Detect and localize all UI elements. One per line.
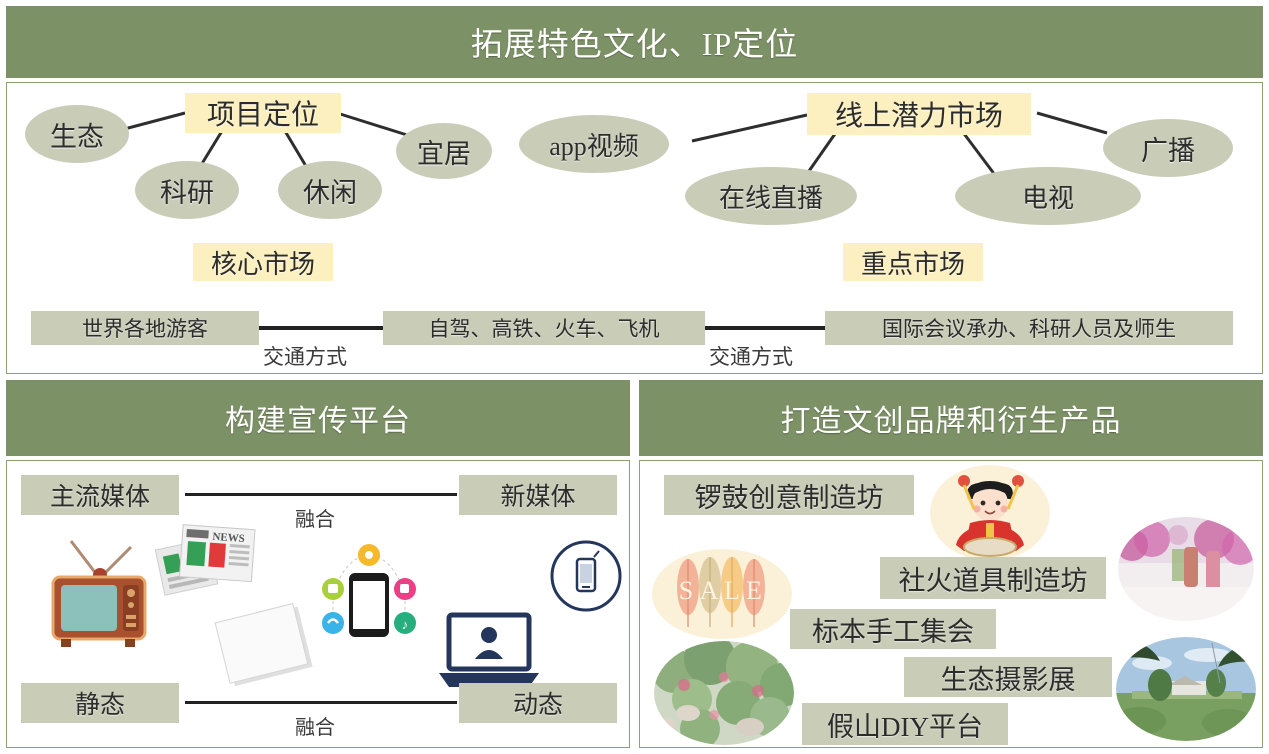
node-label: 休闲 <box>303 171 357 210</box>
label-gong-drum-workshop[interactable]: 锣鼓创意制造坊 <box>664 475 914 515</box>
bottom-left-body: 主流媒体 融合 新媒体 <box>6 460 630 748</box>
node-xiuxian[interactable]: 休闲 <box>278 161 382 219</box>
key-market-label: 重点市场 <box>861 244 965 281</box>
label-dynamic[interactable]: 动态 <box>459 683 617 723</box>
leaves-sale-illustration: S A L E <box>652 543 792 645</box>
bottom-left-title: 构建宣传平台 <box>6 380 630 456</box>
node-label: 在线直播 <box>719 178 823 215</box>
chain-label: 世界各地游客 <box>82 313 208 343</box>
drummer-child-illustration <box>930 465 1050 561</box>
tablet-apps-icon: ♪ <box>315 539 423 649</box>
node-keyan[interactable]: 科研 <box>135 161 239 219</box>
label-shehuo-props-workshop[interactable]: 社火道具制造坊 <box>880 557 1106 599</box>
label-key-market[interactable]: 重点市场 <box>843 243 983 281</box>
bottom-right-title: 打造文创品牌和衍生产品 <box>639 380 1263 456</box>
svg-text:♪: ♪ <box>402 617 409 632</box>
top-section: 拓展特色文化、IP定位 生态 项目定位 科研 休闲 <box>6 6 1263 374</box>
svg-text:NEWS: NEWS <box>212 531 245 545</box>
center-online-market[interactable]: 线上潜力市场 <box>807 93 1031 135</box>
laptop-user-icon <box>435 611 543 693</box>
node-app-video[interactable]: app视频 <box>519 115 669 173</box>
svg-text:L: L <box>724 576 740 605</box>
newspaper-icon: NEWS <box>155 521 265 603</box>
chain-item-0[interactable]: 世界各地游客 <box>31 311 259 345</box>
chain-item-1[interactable]: 自驾、高铁、火车、飞机 <box>383 311 705 345</box>
svg-text:E: E <box>746 576 762 605</box>
chain-label: 自驾、高铁、火车、飞机 <box>429 313 660 343</box>
node-shengtai[interactable]: 生态 <box>25 105 129 163</box>
label-specimen-handicraft-fair[interactable]: 标本手工集会 <box>790 609 996 649</box>
label-mainstream-media[interactable]: 主流媒体 <box>21 475 179 515</box>
chain-label: 国际会议承办、科研人员及师生 <box>882 313 1176 343</box>
node-label: 生态 <box>50 115 104 154</box>
core-market-label: 核心市场 <box>211 244 315 281</box>
node-radio[interactable]: 广播 <box>1103 119 1233 177</box>
top-section-title: 拓展特色文化、IP定位 <box>6 6 1263 78</box>
node-live-stream[interactable]: 在线直播 <box>685 167 857 225</box>
eco-landscape-photo <box>1116 637 1256 741</box>
chain-item-2[interactable]: 国际会议承办、科研人员及师生 <box>825 311 1233 345</box>
top-section-body: 生态 项目定位 科研 休闲 宜居 核心市场 <box>6 82 1263 374</box>
chain-link-label-1: 交通方式 <box>709 341 793 371</box>
node-label: 电视 <box>1022 178 1074 215</box>
diagram-canvas: 拓展特色文化、IP定位 生态 项目定位 科研 休闲 <box>0 0 1269 754</box>
shehuo-parade-photo <box>1118 517 1254 621</box>
center-label: 线上潜力市场 <box>835 94 1003 134</box>
label-new-media[interactable]: 新媒体 <box>459 475 617 515</box>
magazine-book-icon <box>213 603 323 695</box>
label-core-market[interactable]: 核心市场 <box>193 243 333 281</box>
center-xiangmudingwei[interactable]: 项目定位 <box>185 93 341 133</box>
center-label: 项目定位 <box>207 93 319 133</box>
chain-link-0 <box>259 326 383 330</box>
node-label: app视频 <box>549 126 639 163</box>
bottom-left-section: 构建宣传平台 主流媒体 融合 新媒体 <box>6 380 630 748</box>
fusion-line-bottom <box>185 701 457 704</box>
fusion-label-bottom: 融合 <box>295 711 335 740</box>
bottom-right-body: S A L E <box>639 460 1263 748</box>
label-eco-photography-exhibition[interactable]: 生态摄影展 <box>904 657 1112 697</box>
node-label: 广播 <box>1141 129 1195 168</box>
label-static[interactable]: 静态 <box>21 683 179 723</box>
smartphone-circle-icon <box>547 537 625 615</box>
retro-tv-icon <box>45 535 153 653</box>
chain-link-label-0: 交通方式 <box>263 341 347 371</box>
node-label: 科研 <box>160 171 214 210</box>
rockery-garden-photo <box>654 641 794 745</box>
svg-text:A: A <box>700 576 719 605</box>
svg-text:S: S <box>679 576 693 605</box>
fusion-label-top: 融合 <box>295 503 335 532</box>
fusion-line-top <box>185 493 457 496</box>
chain-link-1 <box>705 326 825 330</box>
node-yiju[interactable]: 宜居 <box>396 123 492 179</box>
label-rockery-diy-platform[interactable]: 假山DIY平台 <box>802 703 1008 745</box>
node-label: 宜居 <box>417 132 471 171</box>
bottom-right-section: 打造文创品牌和衍生产品 <box>639 380 1263 748</box>
node-tv[interactable]: 电视 <box>955 167 1141 225</box>
